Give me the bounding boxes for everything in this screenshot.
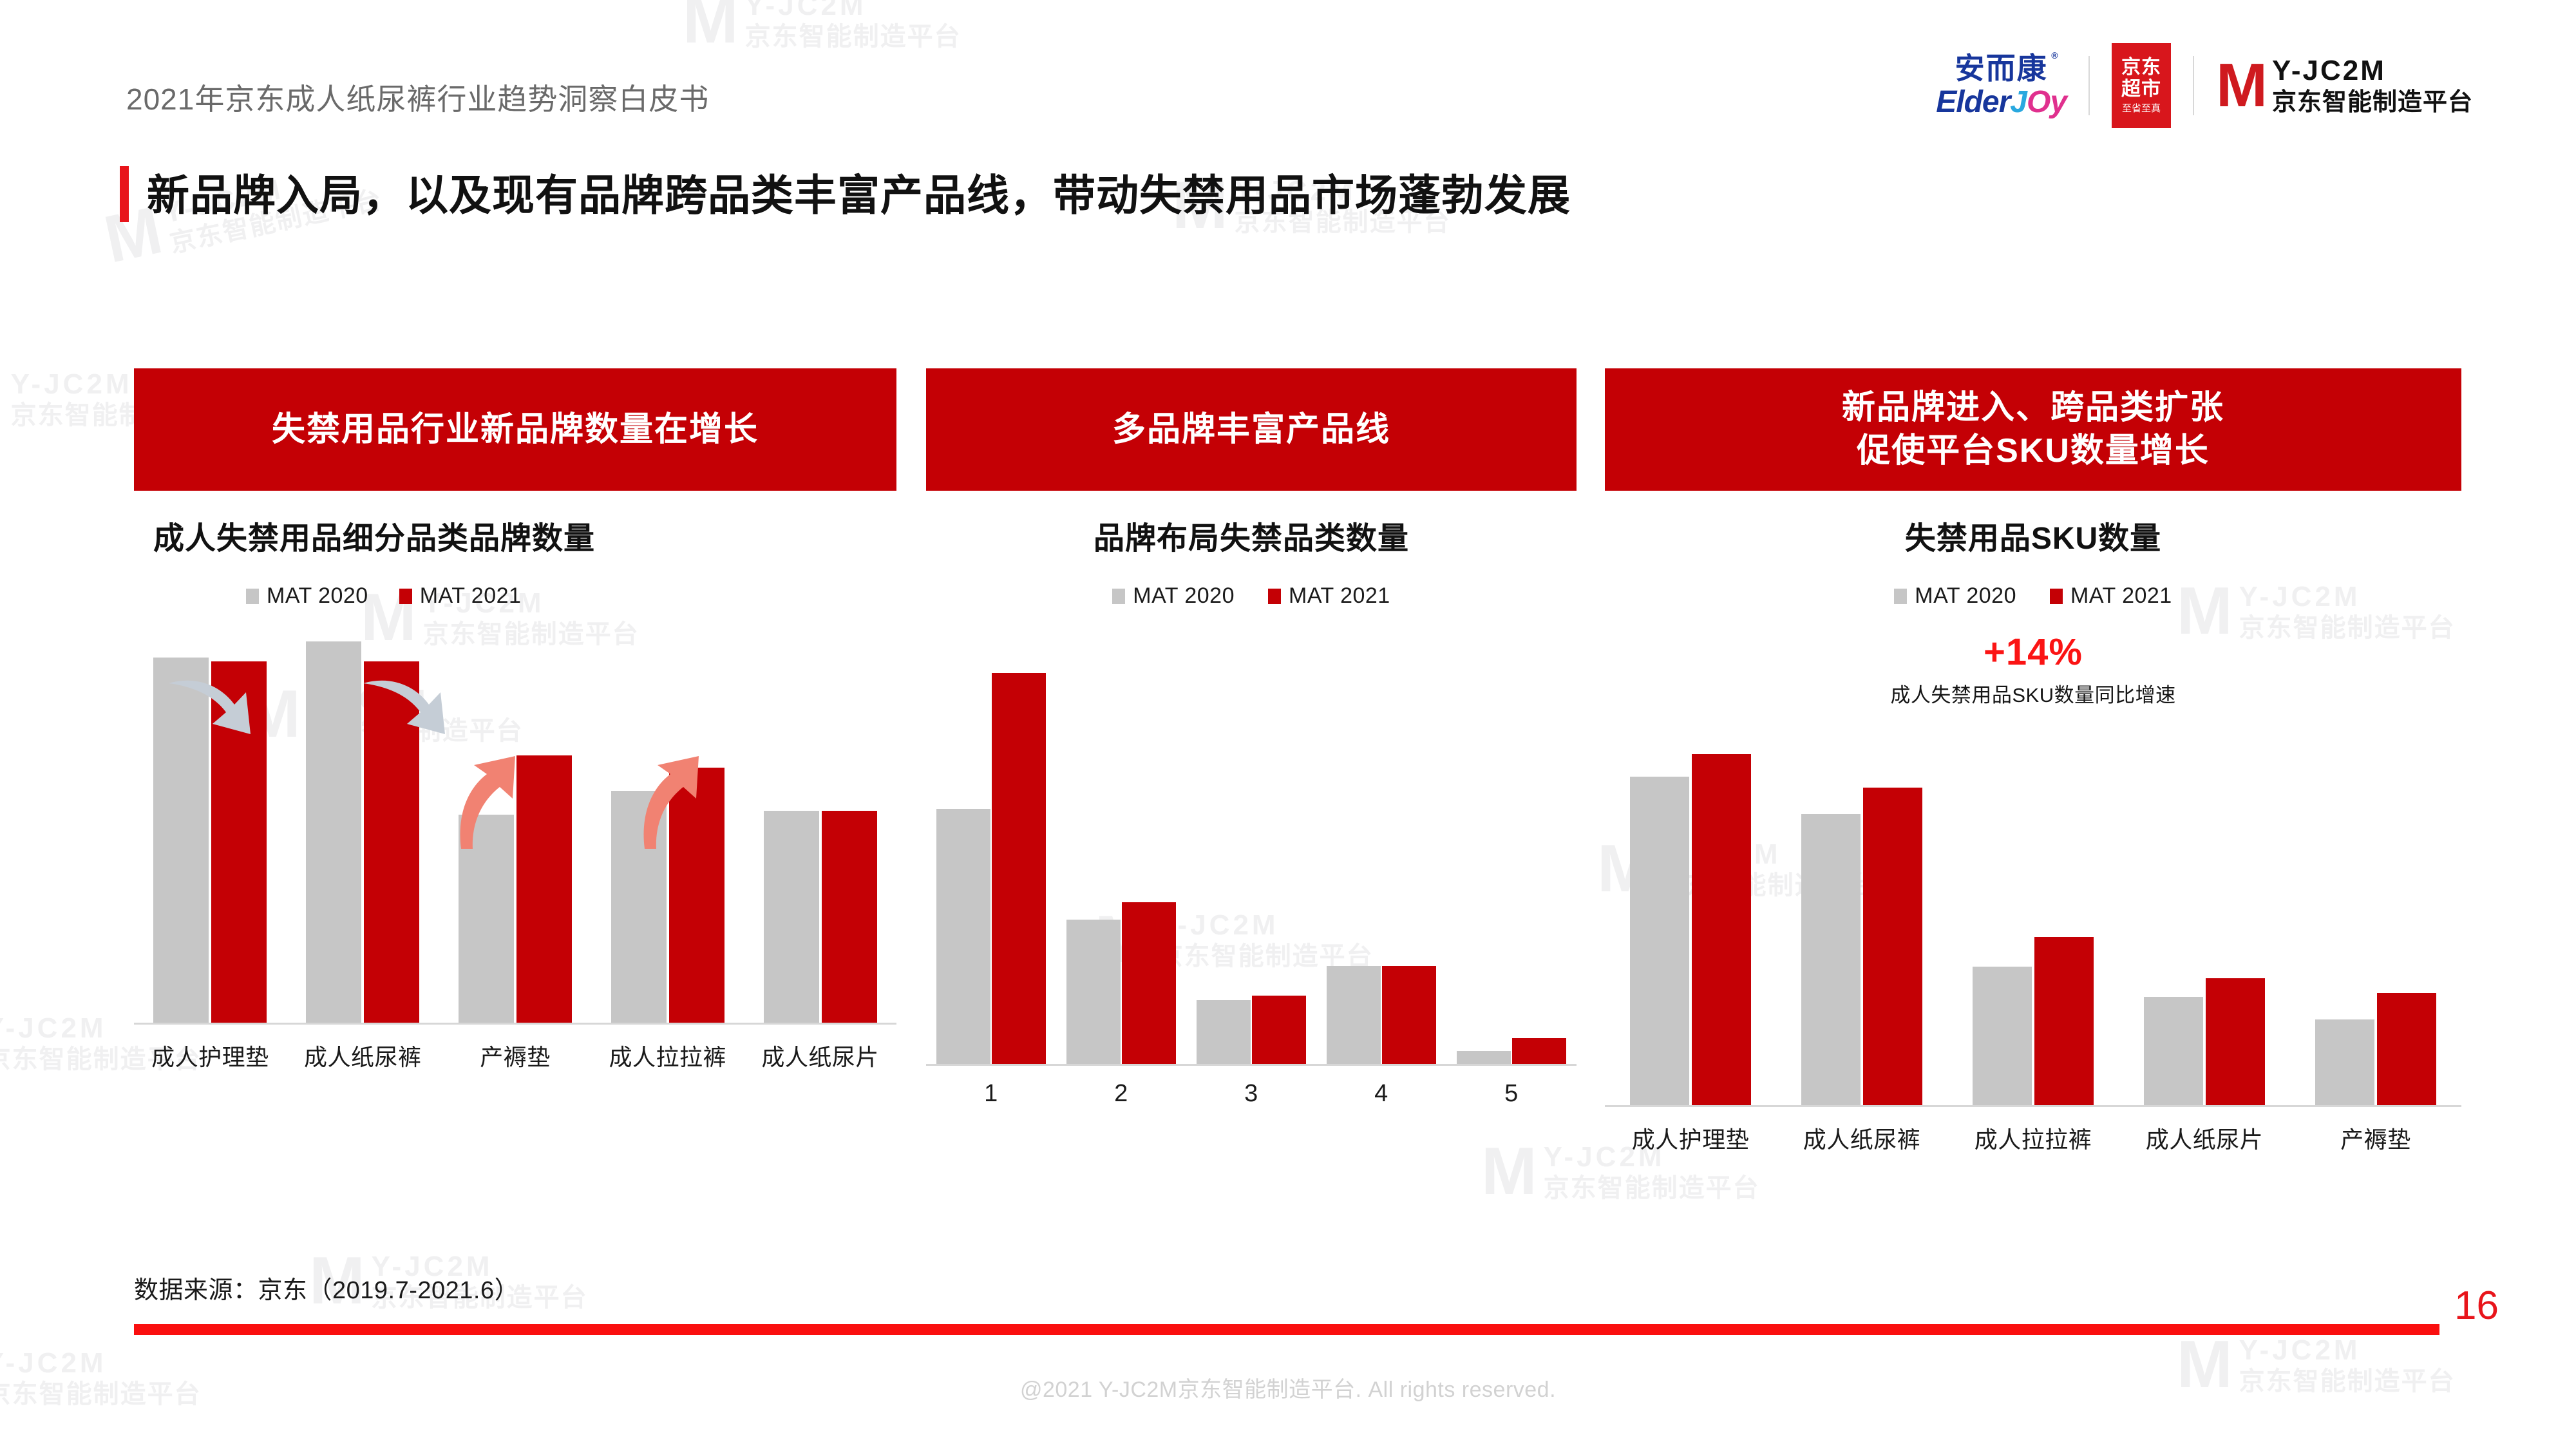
headline-accent-bar [120,166,129,222]
bar-mat2020 [2315,1019,2374,1105]
panel-1-legend: MAT 2020 MAT 2021 [134,583,896,609]
bar-group [744,630,896,1023]
chart-panel-1: 失禁用品行业新品牌数量在增长 成人失禁用品细分品类品牌数量 MAT 2020 M… [134,368,896,1072]
legend-label: MAT 2021 [420,583,522,609]
elderjoy-logo: 安而康® ElderJOy [1936,53,2067,118]
jd-logo-line1: 京东 [2121,58,2161,77]
bar-mat2020 [611,791,667,1023]
bar-mat2020 [1801,814,1861,1105]
elderjoy-en-label: ElderJOy [1936,87,2067,118]
bar-groups [926,639,1577,1064]
x-axis-label: 成人拉拉裤 [1947,1121,2119,1155]
x-axis-label: 成人护理垫 [134,1039,287,1072]
legend-label: MAT 2021 [2070,583,2172,609]
bar-mat2020 [1630,777,1689,1105]
yjc2m-logo: M Y-JC2M 京东智能制造平台 [2216,55,2473,117]
bar-mat2021 [1122,902,1176,1064]
bar-group [1056,639,1186,1064]
bar-mat2020 [1197,1000,1251,1064]
jd-logo-line2: 超市 [2121,80,2161,99]
bar-mat2020 [1457,1051,1511,1064]
bar-mat2021 [1252,996,1306,1064]
watermark-mark: M [0,361,1,438]
watermark-line1: Y-JC2M [2239,1334,2456,1367]
copyright-notice: @2021 Y-JC2M京东智能制造平台. All rights reserve… [0,1372,2576,1403]
bar-mat2021 [992,673,1046,1064]
bar-mat2020 [1973,967,2032,1105]
logo-divider [2088,56,2090,115]
panel-1-banner: 失禁用品行业新品牌数量在增长 [134,368,896,491]
chart-panel-2: 多品牌丰富产品线 品牌布局失禁品类数量 MAT 2020 MAT 2021 [926,368,1577,1108]
jd-supermarket-logo: 京东 超市 至省至真 [2112,43,2171,128]
bar-group [287,630,439,1023]
slide-canvas: MY-JC2M京东智能制造平台 MY-JC2M京东智能制造平台 MY-JC2M京… [0,0,2576,1449]
x-axis-label: 3 [1186,1080,1316,1108]
x-axis-label: 成人纸尿裤 [1776,1121,1947,1155]
panel-3-plot [1605,734,2461,1107]
growth-caption: 成人失禁用品SKU数量同比增速 [1605,679,2461,708]
bar-mat2021 [211,661,267,1023]
x-axis-label: 2 [1056,1080,1186,1108]
chart-panel-3: 新品牌进入、跨品类扩张 促使平台SKU数量增长 失禁用品SKU数量 MAT 20… [1605,368,2461,1155]
legend-item-mat2021: MAT 2021 [2050,583,2172,609]
bar-mat2021 [822,811,877,1023]
legend-swatch-icon [1894,589,1907,604]
panel-2-x-labels: 1 2 3 4 5 [926,1080,1577,1108]
x-axis-label: 成人纸尿片 [2119,1121,2290,1155]
bar-group [1446,639,1577,1064]
deck-title: 2021年京东成人纸尿裤行业趋势洞察白皮书 [126,76,709,118]
legend-swatch-icon [399,589,412,604]
bar-mat2021 [2377,993,2436,1105]
bar-mat2020 [1066,920,1121,1064]
bar-mat2020 [153,658,209,1023]
bar-mat2021 [1512,1038,1566,1064]
bar-mat2021 [364,661,419,1023]
panel-1-plot [134,632,896,1025]
bar-mat2020 [936,809,990,1064]
bar-groups [134,630,896,1023]
x-axis-label: 产褥垫 [439,1039,592,1072]
headline-text: 新品牌入局，以及现有品牌跨品类丰富产品线，带动失禁用品市场蓬勃发展 [147,166,1571,222]
panel-3-banner-line2: 促使平台SKU数量增长 [1842,430,2224,473]
legend-swatch-icon [246,589,259,604]
bar-mat2020 [764,811,819,1023]
bar-group [439,630,592,1023]
x-axis-label: 成人纸尿片 [744,1039,896,1072]
bar-mat2021 [669,768,724,1023]
panel-2-plot [926,641,1577,1066]
watermark: MY-JC2M京东智能制造平台 [683,0,961,59]
bar-group [1316,639,1446,1064]
bar-mat2021 [516,755,572,1023]
bar-group [2290,732,2461,1105]
panel-2-banner-text: 多品牌丰富产品线 [1112,408,1390,451]
panel-1-x-labels: 成人护理垫 成人纸尿裤 产褥垫 成人拉拉裤 成人纸尿片 [134,1039,896,1072]
bar-mat2020 [2144,997,2203,1105]
bar-group [591,630,744,1023]
x-axis-line [134,1023,896,1025]
footer-rule [134,1324,2439,1335]
x-axis-label: 5 [1446,1080,1577,1108]
yjc2m-logo-line2: 京东智能制造平台 [2272,89,2473,117]
legend-swatch-icon [1268,589,1281,604]
trademark-icon: ® [2051,51,2059,60]
bar-groups [1605,732,2461,1105]
bar-group [1605,732,1776,1105]
x-axis-line [1605,1105,2461,1107]
bar-mat2020 [459,815,514,1023]
watermark-mark: M [683,0,735,59]
panel-3-subtitle: 失禁用品SKU数量 [1605,513,2461,558]
bar-group [926,639,1056,1064]
x-axis-label: 成人护理垫 [1605,1121,1776,1155]
bar-mat2021 [1382,966,1436,1064]
bar-mat2021 [1863,788,1922,1105]
panel-3-x-labels: 成人护理垫 成人纸尿裤 成人拉拉裤 成人纸尿片 产褥垫 [1605,1121,2461,1155]
bar-mat2020 [306,641,361,1023]
data-source-note: 数据来源：京东（2019.7-2021.6） [134,1270,519,1305]
x-axis-label: 4 [1316,1080,1446,1108]
jd-logo-tagline: 至省至真 [2122,104,2161,113]
bar-mat2020 [1327,966,1381,1064]
watermark-line2: 京东智能制造平台 [1544,1173,1760,1203]
panel-3-banner-line1: 新品牌进入、跨品类扩张 [1842,386,2224,430]
bar-mat2021 [1692,754,1751,1105]
legend-label: MAT 2021 [1289,583,1390,609]
legend-item-mat2020: MAT 2020 [1894,583,2016,609]
headline: 新品牌入局，以及现有品牌跨品类丰富产品线，带动失禁用品市场蓬勃发展 [120,166,1571,222]
yjc2m-mark-icon: M [2216,59,2263,112]
elderjoy-cn-label: 安而康® [1955,53,2048,83]
x-axis-label: 成人拉拉裤 [591,1039,744,1072]
bar-group [2119,732,2290,1105]
x-axis-label: 产褥垫 [2290,1121,2461,1155]
growth-value: +14% [1605,630,2461,674]
growth-annotation: +14% 成人失禁用品SKU数量同比增速 [1605,630,2461,708]
page-number: 16 [2454,1283,2499,1329]
watermark-line1: Y-JC2M [745,0,961,22]
x-axis-label: 成人纸尿裤 [287,1039,439,1072]
bar-group [1186,639,1316,1064]
bar-mat2021 [2034,937,2094,1105]
panel-3-banner: 新品牌进入、跨品类扩张 促使平台SKU数量增长 [1605,368,2461,491]
panel-1-banner-text: 失禁用品行业新品牌数量在增长 [272,408,759,451]
watermark-line2: 京东智能制造平台 [745,22,961,52]
logo-divider [2193,56,2194,115]
logo-group: 安而康® ElderJOy 京东 超市 至省至真 M Y-JC2M 京东智能制造… [1936,44,2473,128]
legend-item-mat2021: MAT 2021 [399,583,522,609]
legend-item-mat2020: MAT 2020 [1112,583,1235,609]
panel-2-subtitle: 品牌布局失禁品类数量 [926,513,1577,558]
legend-label: MAT 2020 [1915,583,2016,609]
bar-group [1776,732,1947,1105]
bar-group [1947,732,2119,1105]
legend-swatch-icon [1112,589,1125,604]
legend-item-mat2021: MAT 2021 [1268,583,1390,609]
legend-label: MAT 2020 [267,583,368,609]
bar-group [134,630,287,1023]
legend-swatch-icon [2050,589,2063,604]
x-axis-label: 1 [926,1080,1056,1108]
panel-2-banner: 多品牌丰富产品线 [926,368,1577,491]
legend-label: MAT 2020 [1133,583,1235,609]
panel-3-legend: MAT 2020 MAT 2021 [1605,583,2461,609]
panel-2-legend: MAT 2020 MAT 2021 [926,583,1577,609]
yjc2m-logo-line1: Y-JC2M [2272,55,2473,86]
x-axis-line [926,1064,1577,1066]
panel-1-subtitle: 成人失禁用品细分品类品牌数量 [134,513,896,558]
watermark-mark: M [1481,1133,1533,1211]
legend-item-mat2020: MAT 2020 [246,583,368,609]
bar-mat2021 [2206,978,2265,1105]
